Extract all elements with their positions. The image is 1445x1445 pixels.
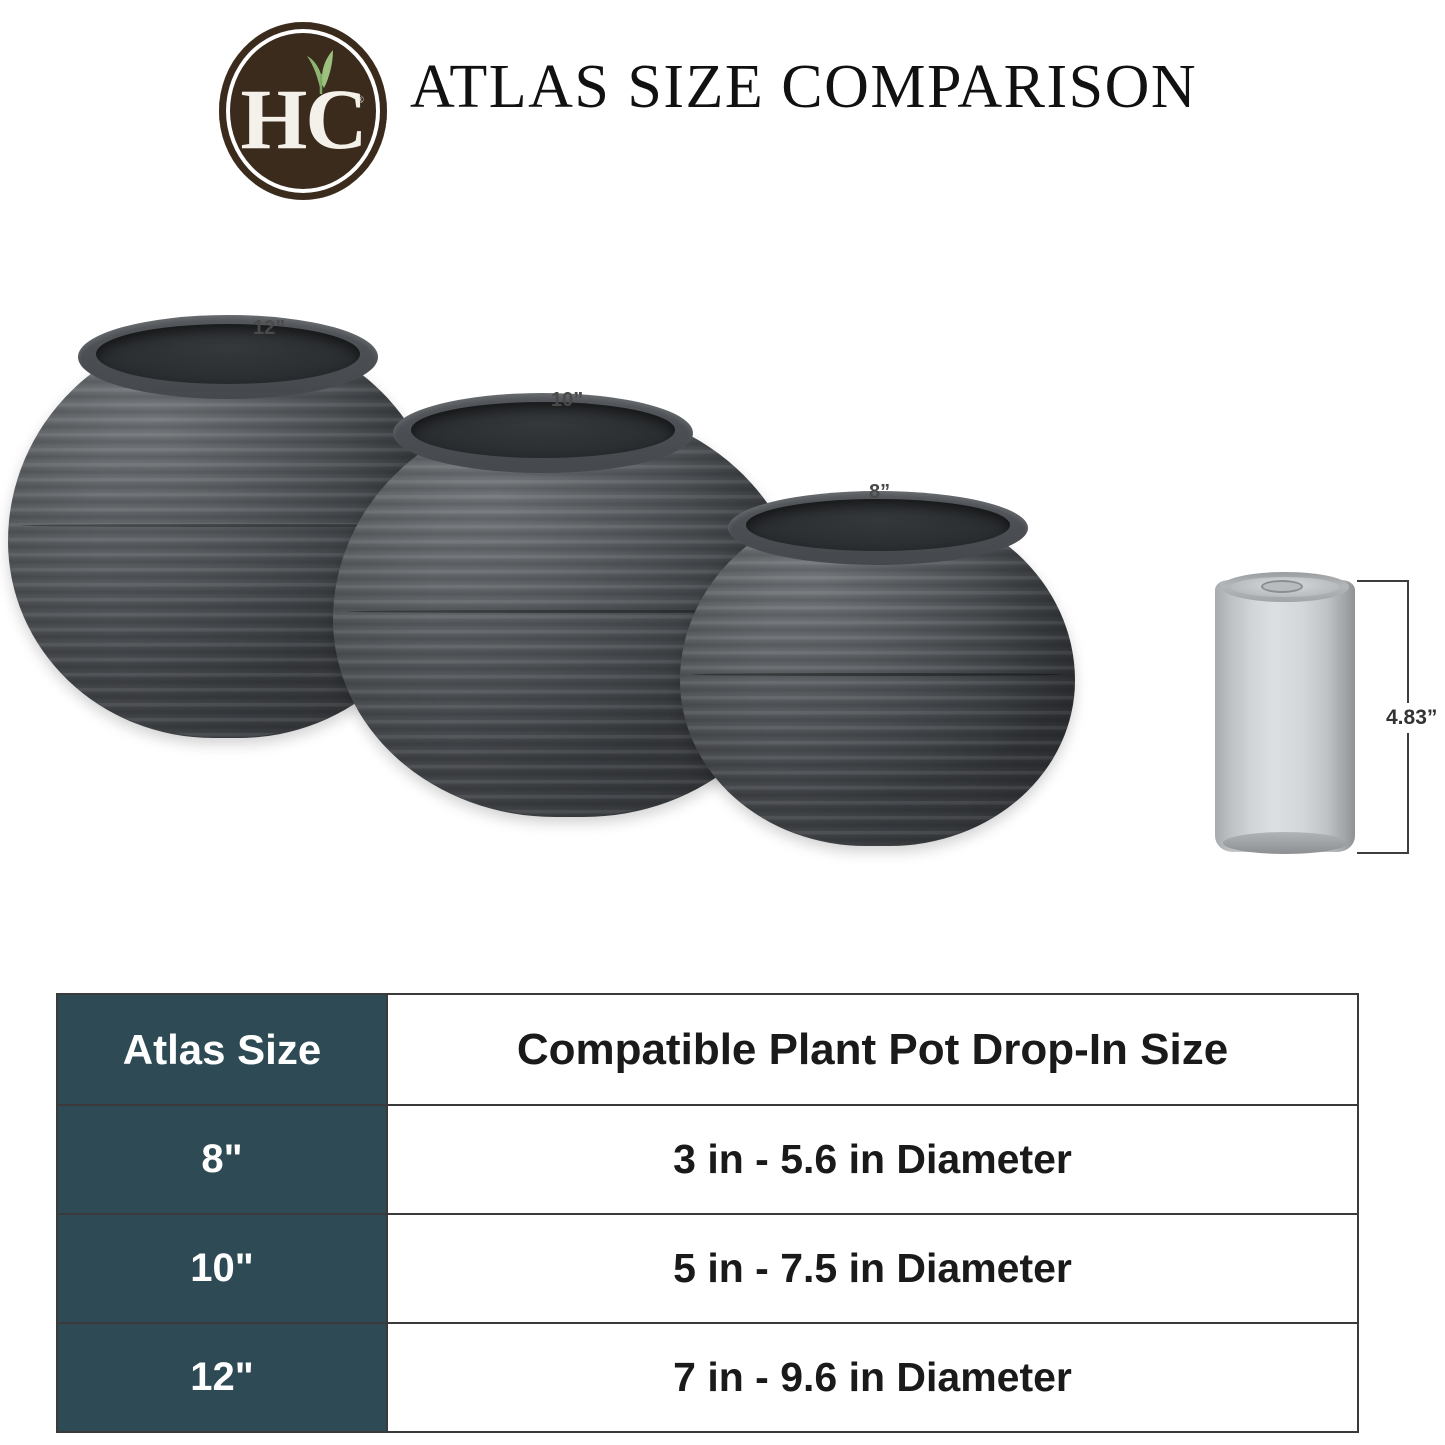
table-row: 12" 7 in - 9.6 in Diameter xyxy=(57,1323,1358,1432)
row-compatible-8: 3 in - 5.6 in Diameter xyxy=(387,1105,1358,1214)
registered-mark: ® xyxy=(356,94,364,106)
dimension-tick-top xyxy=(1357,580,1409,582)
planter-8-size-label: 8” xyxy=(869,481,890,504)
row-size-12: 12" xyxy=(57,1323,387,1432)
planter-12-size-label: 12” xyxy=(253,317,285,340)
can-dimension-label: 4.83” xyxy=(1381,703,1442,733)
row-size-8: 8" xyxy=(57,1105,387,1214)
hc-brand-logo: HC ® xyxy=(219,22,387,200)
dimension-tick-bottom xyxy=(1357,852,1409,854)
page-header: HC ® ATLAS SIZE COMPARISON xyxy=(0,0,1445,215)
page-title: ATLAS SIZE COMPARISON xyxy=(410,52,1197,123)
table-row: 8" 3 in - 5.6 in Diameter xyxy=(57,1105,1358,1214)
can-pull-tab-icon xyxy=(1261,580,1303,593)
planter-10-opening xyxy=(411,402,675,458)
reference-soda-can: 4.83” xyxy=(1205,560,1445,865)
planter-8-seam xyxy=(692,673,1063,676)
column-header-atlas-size: Atlas Size xyxy=(57,994,387,1105)
column-header-compatible-size: Compatible Plant Pot Drop-In Size xyxy=(387,994,1358,1105)
atlas-size-table: Atlas Size Compatible Plant Pot Drop-In … xyxy=(56,993,1359,1433)
row-size-10: 10" xyxy=(57,1214,387,1323)
row-compatible-10: 5 in - 7.5 in Diameter xyxy=(387,1214,1358,1323)
leaf-icon xyxy=(291,38,351,96)
table-row: 10" 5 in - 7.5 in Diameter xyxy=(57,1214,1358,1323)
product-comparison-scene: 12” 10” 8” xyxy=(0,215,1445,975)
table-header-row: Atlas Size Compatible Plant Pot Drop-In … xyxy=(57,994,1358,1105)
size-table-container: Atlas Size Compatible Plant Pot Drop-In … xyxy=(56,993,1359,1433)
planter-10-size-label: 10” xyxy=(551,389,583,412)
logo-inner: HC ® xyxy=(219,22,387,200)
can-body xyxy=(1215,580,1355,852)
planter-8-inch xyxy=(680,501,1075,846)
can-bottom xyxy=(1223,832,1347,854)
row-compatible-12: 7 in - 9.6 in Diameter xyxy=(387,1323,1358,1432)
planter-8-opening xyxy=(746,499,1010,551)
planter-12-opening xyxy=(96,324,360,384)
size-comparison-page: HC ® ATLAS SIZE COMPARISON xyxy=(0,0,1445,1445)
